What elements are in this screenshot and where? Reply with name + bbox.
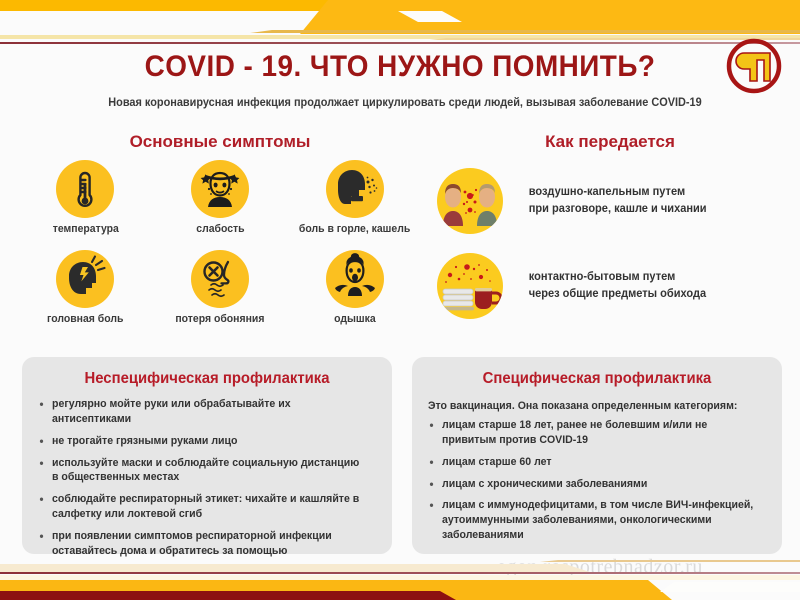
bottom-white-wedge [660, 582, 800, 592]
list-item: лицам старше 60 лет [442, 455, 755, 470]
symptom-item: потеря обоняния [153, 250, 288, 340]
symptom-item: одышка [287, 250, 422, 340]
coughing-head-icon [326, 160, 384, 218]
bottom-banner [0, 556, 800, 600]
top-yellow-wedge [300, 0, 800, 34]
top-thin-red-line [0, 42, 800, 44]
list-item: не трогайте грязными руками лицо [52, 434, 365, 449]
symptom-icon-badge [56, 160, 114, 218]
list-item: лицам с хроническими заболеваниями [442, 477, 755, 492]
symptom-label: потеря обоняния [175, 313, 264, 326]
dishes-and-mug-icon [437, 253, 503, 319]
panel-title: Неспецифическая профилактика [29, 370, 384, 388]
symptom-icon-badge [191, 160, 249, 218]
bottom-cream-band-2 [0, 575, 800, 580]
page-subtitle: Новая коронавирусная инфекция продолжает… [77, 97, 733, 109]
no-smell-nose-icon [191, 250, 249, 308]
symptoms-heading: Основные симптомы [20, 132, 420, 152]
specific-prevention-panel: Специфическая профилактика Это вакцинаци… [412, 357, 782, 554]
page-title: COVID - 19. ЧТО НУЖНО ПОМНИТЬ? [28, 50, 772, 84]
symptom-label: боль в горле, кашель [299, 223, 410, 236]
symptoms-grid: температура [18, 160, 422, 340]
headache-icon [56, 250, 114, 308]
symptom-icon-badge [326, 160, 384, 218]
symptom-item: боль в горле, кашель [287, 160, 422, 250]
transmission-item: контактно-бытовым путем через общие пред… [437, 253, 710, 319]
nonspecific-prevention-list: регулярно мойте руки или обрабатывайте и… [22, 397, 392, 559]
symptom-icon-badge [191, 250, 249, 308]
transmission-item: воздушно-капельным путем при разговоре, … [437, 168, 710, 234]
symptom-label: слабость [196, 223, 244, 236]
transmission-icon-badge [437, 253, 503, 319]
symptom-label: головная боль [47, 313, 123, 326]
bottom-cream-band [0, 564, 800, 572]
symptom-item: головная боль [18, 250, 153, 340]
symptom-label: температура [52, 223, 118, 236]
symptom-item: температура [18, 160, 153, 250]
two-people-talking-icon [437, 168, 503, 234]
symptom-label: одышка [334, 313, 376, 326]
symptom-icon-badge [326, 250, 384, 308]
list-item: лицам старше 18 лет, ранее не болевшим и… [442, 418, 755, 448]
transmission-line-2: через общие предметы обихода [529, 286, 706, 303]
symptom-icon-badge [56, 250, 114, 308]
list-item: используйте маски и соблюдайте социальну… [52, 456, 365, 486]
dizzy-head-icon [191, 160, 249, 218]
list-item: лицам с иммунодефицитами, в том числе ВИ… [442, 498, 755, 543]
nonspecific-prevention-panel: Неспецифическая профилактика регулярно м… [22, 357, 392, 554]
transmission-text: воздушно-капельным путем при разговоре, … [529, 184, 707, 217]
transmission-line-1: воздушно-капельным путем [529, 184, 707, 201]
infographic-page: COVID - 19. ЧТО НУЖНО ПОМНИТЬ? Новая кор… [0, 0, 800, 600]
symptom-item: слабость [153, 160, 288, 250]
panel-title: Специфическая профилактика [419, 370, 774, 388]
list-item: регулярно мойте руки или обрабатывайте и… [52, 397, 365, 427]
transmission-icon-badge [437, 168, 503, 234]
specific-prevention-list: лицам старше 18 лет, ранее не болевшим и… [412, 418, 782, 543]
bottom-darkred-wedge [0, 591, 800, 600]
transmission-text: контактно-бытовым путем через общие пред… [529, 269, 706, 302]
bottom-thin-red-line [0, 572, 800, 574]
list-item: соблюдайте респираторный этикет: чихайте… [52, 492, 365, 522]
transmission-heading: Как передается [430, 132, 790, 152]
transmission-line-2: при разговоре, кашле и чихании [529, 201, 707, 218]
panel-intro-text: Это вакцинация. Она показана определенны… [428, 400, 768, 412]
thermometer-icon [56, 160, 114, 218]
list-item: при появлении симптомов респираторной ин… [52, 529, 365, 559]
transmission-line-1: контактно-бытовым путем [529, 269, 706, 286]
shortness-of-breath-icon [326, 250, 384, 308]
